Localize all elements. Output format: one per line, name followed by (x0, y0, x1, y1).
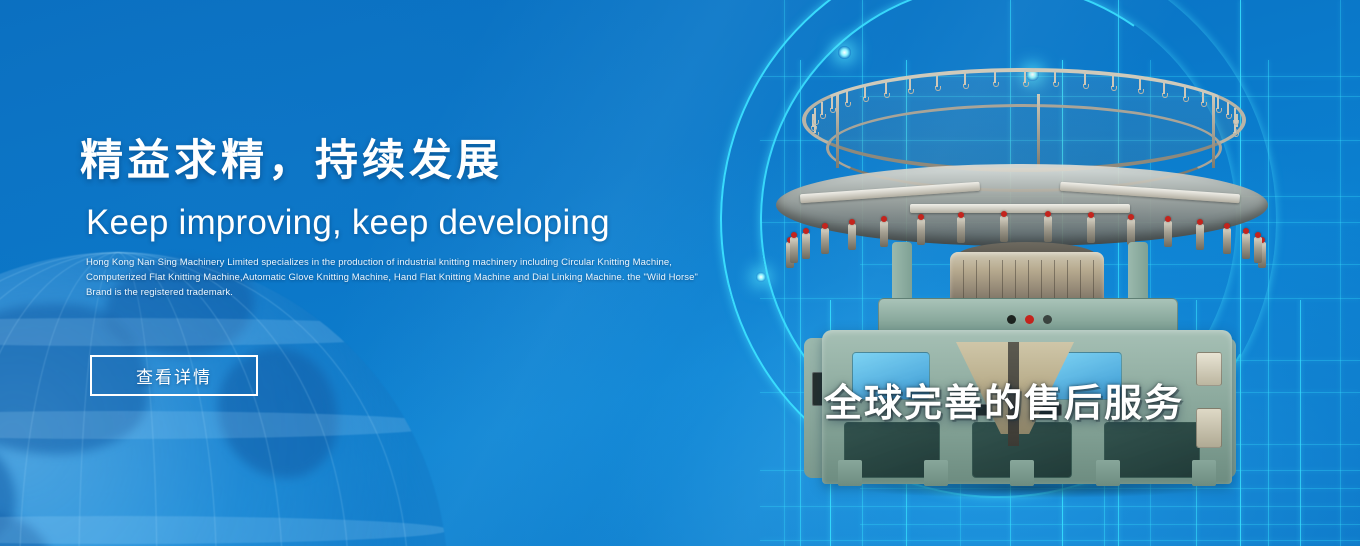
hero-copy: 精益求精，持续发展 Keep improving, keep developin… (80, 136, 730, 301)
yarn-hook (964, 72, 966, 85)
yarn-feeder (957, 217, 965, 243)
support-post (1212, 94, 1215, 168)
machine-leg (1096, 460, 1120, 486)
control-panel-lower (1196, 408, 1222, 448)
control-panel-display (1196, 352, 1222, 386)
cylinder-segment (1041, 260, 1042, 302)
yarn-feeder (821, 228, 829, 254)
support-post (836, 94, 839, 168)
cylinder-segment (963, 260, 964, 302)
yarn-feeder (1087, 217, 1095, 243)
yarn-feeder (880, 221, 888, 247)
yarn-hook (1024, 70, 1026, 83)
cylinder-segment (1002, 260, 1003, 302)
yarn-feeder (1196, 224, 1204, 250)
grid-line-horizontal (760, 540, 1360, 541)
cylinder-segment (989, 260, 990, 302)
company-description: Hong Kong Nan Sing Machinery Limited spe… (86, 255, 708, 301)
cylinder-segment (1067, 260, 1068, 302)
cylinder-segment (1080, 260, 1081, 302)
cylinder-segment (1054, 260, 1055, 302)
machine-leg (1192, 460, 1216, 486)
yarn-feeder (1164, 221, 1172, 247)
machine-leg (924, 460, 948, 486)
yarn-feeder (802, 233, 810, 259)
grid-line-horizontal (860, 524, 1360, 525)
hero-banner: 精益求精，持续发展 Keep improving, keep developin… (0, 0, 1360, 546)
yarn-feeder (848, 224, 856, 250)
yarn-feeder (1242, 233, 1250, 259)
control-button-red (1025, 315, 1034, 324)
cylinder-segment (976, 260, 977, 302)
machine-leg (838, 460, 862, 486)
machine-leg (1010, 460, 1034, 486)
grid-line-horizontal (760, 506, 1360, 507)
machine-legs (838, 460, 1216, 488)
yarn-hook (994, 70, 996, 83)
yarn-feeder (1254, 237, 1262, 263)
view-details-button[interactable]: 查看详情 (90, 355, 258, 396)
grid-line-vertical (1340, 0, 1341, 546)
yarn-feeder (790, 237, 798, 263)
control-button-grey (1043, 315, 1052, 324)
grid-line-vertical (1300, 300, 1301, 546)
yarn-hook (1084, 72, 1086, 85)
subtitle-english: Keep improving, keep developing (86, 203, 730, 243)
page-title: 精益求精，持续发展 (80, 136, 730, 187)
service-caption: 全球完善的售后服务 (824, 372, 1184, 427)
yarn-hook (1054, 70, 1056, 83)
yarn-feeder (1000, 216, 1008, 242)
support-post (1037, 94, 1040, 168)
yarn-feeder (1223, 228, 1231, 254)
cylinder-segment (1015, 260, 1016, 302)
yarn-feeder (1044, 216, 1052, 242)
cylinder-segment (1028, 260, 1029, 302)
yarn-feeder (1127, 219, 1135, 245)
cylinder-segment (1093, 260, 1094, 302)
circular-knitting-machine (760, 46, 1280, 496)
control-button-black (1007, 315, 1016, 324)
yarn-feeder (917, 219, 925, 245)
